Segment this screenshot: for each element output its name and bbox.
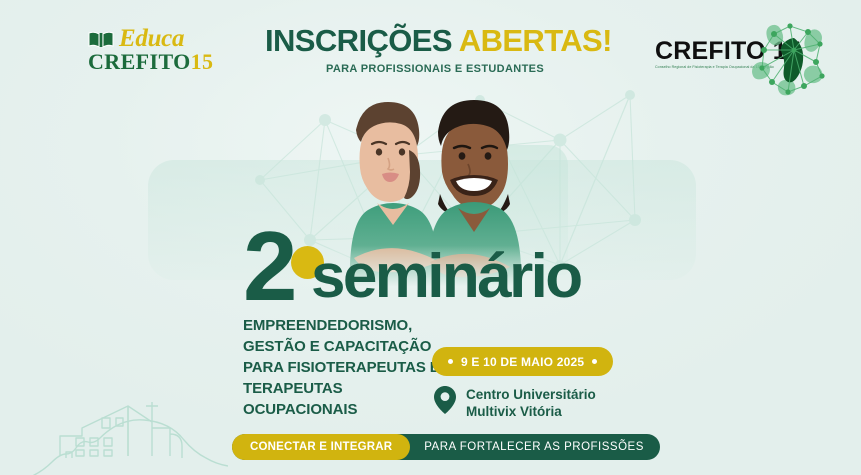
- tagline-bar: CONECTAR E INTEGRAR PARA FORTALECER AS P…: [232, 434, 660, 460]
- educa-crefito-wordmark: CREFITO15: [88, 51, 218, 73]
- location-text: Centro Universitário Multivix Vitória: [466, 386, 596, 420]
- headline-subtitle: PARA PROFISSIONAIS E ESTUDANTES: [265, 63, 605, 75]
- map-pin-icon: [434, 386, 456, 414]
- educa-wordmark: Educa: [119, 27, 184, 51]
- tagline-rest: PARA FORTALECER AS PROFISSÕES: [410, 441, 644, 453]
- crefito-15-logo: CREFITO 15 Conselho Regional de Fisioter…: [655, 38, 805, 94]
- headline-part1: INSCRIÇÕES: [265, 23, 459, 58]
- headline-part2: ABERTAS!: [459, 23, 612, 58]
- date-badge: 9 E 10 DE MAIO 2025: [432, 347, 613, 376]
- crefito-word: CREFITO: [88, 49, 191, 74]
- headline-block: INSCRIÇÕES ABERTAS! PARA PROFISSIONAIS E…: [265, 24, 605, 75]
- location-block: Centro Universitário Multivix Vitória: [434, 386, 596, 420]
- edition-numeral: 2: [243, 218, 293, 314]
- crefito-number: 15: [191, 49, 214, 74]
- headline-main: INSCRIÇÕES ABERTAS!: [265, 24, 605, 58]
- convento-da-penha-landmark-icon: [28, 392, 228, 475]
- date-badge-label: 9 E 10 DE MAIO 2025: [461, 355, 584, 369]
- event-banner: Educa CREFITO15 INSCRIÇÕES ABERTAS! PARA…: [0, 0, 861, 475]
- globe-network-icon: [750, 18, 828, 96]
- educa-crefito-logo: Educa CREFITO15: [88, 26, 218, 74]
- event-title: seminário: [311, 246, 581, 308]
- location-line-1: Centro Universitário: [466, 386, 596, 403]
- bullet-right-icon: [592, 359, 597, 364]
- tagline-highlight: CONECTAR E INTEGRAR: [232, 434, 410, 460]
- bullet-left-icon: [448, 359, 453, 364]
- event-description: EMPREENDEDORISMO, GESTÃO E CAPACITAÇÃO P…: [243, 315, 448, 420]
- open-book-icon: [88, 30, 114, 49]
- location-line-2: Multivix Vitória: [466, 403, 596, 420]
